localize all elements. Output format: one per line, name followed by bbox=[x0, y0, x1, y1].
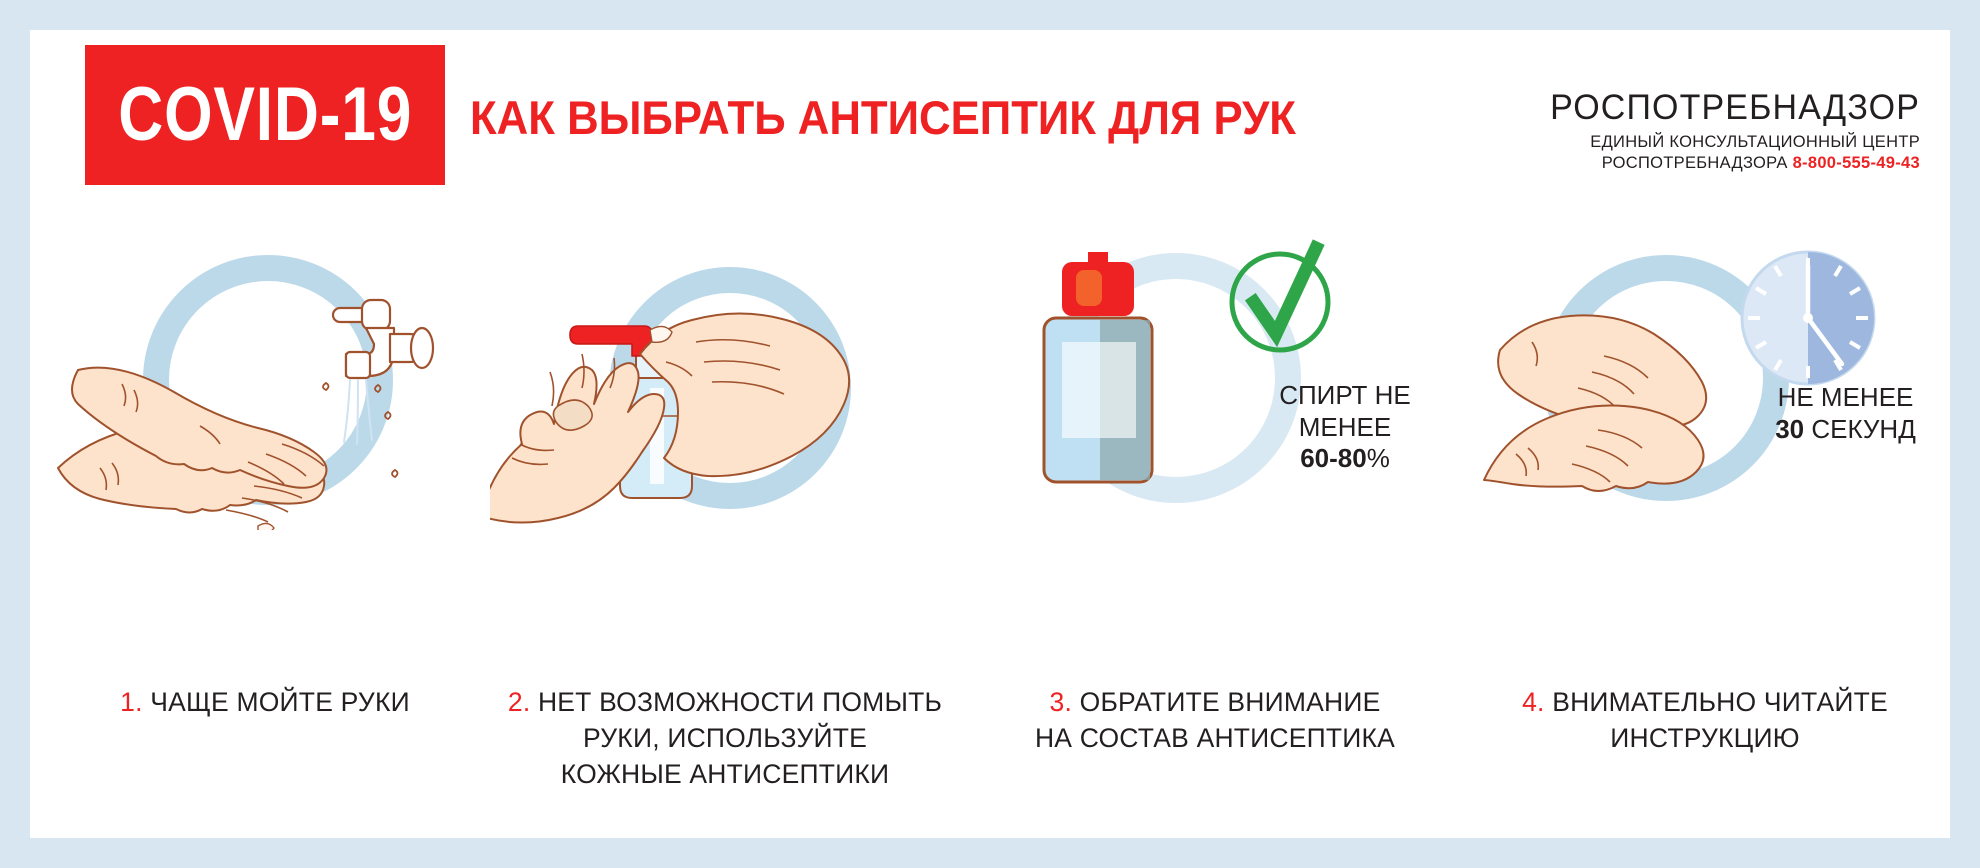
caption-4-text-line1: ВНИМАТЕЛЬНО ЧИТАЙТЕ bbox=[1552, 687, 1888, 717]
caption-2-text-line1: НЕТ ВОЗМОЖНОСТИ ПОМЫТЬ bbox=[538, 687, 942, 717]
alcohol-label-value-row: 60-80% bbox=[1230, 443, 1460, 475]
agency-block: РОСПОТРЕБНАДЗОР ЕДИНЫЙ КОНСУЛЬТАЦИОННЫЙ … bbox=[1500, 88, 1920, 173]
caption-1-number: 1. bbox=[120, 687, 143, 717]
duration-label-line1: НЕ МЕНЕЕ bbox=[1738, 382, 1953, 414]
duration-label: НЕ МЕНЕЕ 30 СЕКУНД bbox=[1738, 382, 1953, 445]
caption-1: 1. ЧАЩЕ МОЙТЕ РУКИ bbox=[25, 685, 505, 721]
agency-name: РОСПОТРЕБНАДЗОР bbox=[1513, 88, 1920, 128]
caption-3: 3. ОБРАТИТЕ ВНИМАНИЕ НА СОСТАВ АНТИСЕПТИ… bbox=[975, 685, 1455, 757]
caption-4-text-line2: ИНСТРУКЦИЮ bbox=[1465, 721, 1945, 757]
alcohol-content-label: СПИРТ НЕ МЕНЕЕ 60-80% bbox=[1230, 380, 1460, 475]
caption-4-line1: 4. ВНИМАТЕЛЬНО ЧИТАЙТЕ bbox=[1465, 685, 1945, 721]
caption-2-text-line3: КОЖНЫЕ АНТИСЕПТИКИ bbox=[485, 757, 965, 793]
caption-2: 2. НЕТ ВОЗМОЖНОСТИ ПОМЫТЬ РУКИ, ИСПОЛЬЗУ… bbox=[485, 685, 965, 792]
agency-hotline-prefix: РОСПОТРЕБНАДЗОРА bbox=[1602, 154, 1788, 172]
caption-3-line1: 3. ОБРАТИТЕ ВНИМАНИЕ bbox=[975, 685, 1455, 721]
panel-4: НЕ МЕНЕЕ 30 СЕКУНД bbox=[1470, 230, 1950, 700]
poster-header: COVID-19 КАК ВЫБРАТЬ АНТИСЕПТИК ДЛЯ РУК … bbox=[30, 30, 1950, 220]
agency-hotline-line1: ЕДИНЫЙ КОНСУЛЬТАЦИОННЫЙ ЦЕНТР bbox=[1500, 133, 1920, 152]
hands-rubbing-with-clock-icon bbox=[1470, 230, 1950, 530]
captions-row: 1. ЧАЩЕ МОЙТЕ РУКИ 2. НЕТ ВОЗМОЖНОСТИ ПО… bbox=[30, 685, 1950, 835]
percent-sign: % bbox=[1367, 443, 1390, 473]
alcohol-percent-value: 60-80 bbox=[1300, 443, 1367, 473]
caption-4: 4. ВНИМАТЕЛЬНО ЧИТАЙТЕ ИНСТРУКЦИЮ bbox=[1465, 685, 1945, 757]
caption-4-number: 4. bbox=[1522, 687, 1545, 717]
panels-row: СПИРТ НЕ МЕНЕЕ 60-80% bbox=[30, 230, 1950, 700]
alcohol-label-line1: СПИРТ НЕ МЕНЕЕ bbox=[1230, 380, 1460, 443]
caption-3-number: 3. bbox=[1050, 687, 1073, 717]
panel-3: СПИРТ НЕ МЕНЕЕ 60-80% bbox=[980, 230, 1460, 700]
covid19-badge-label: COVID-19 bbox=[118, 77, 412, 153]
caption-3-text-line2: НА СОСТАВ АНТИСЕПТИКА bbox=[975, 721, 1455, 757]
caption-2-text-line2: РУКИ, ИСПОЛЬЗУЙТЕ bbox=[485, 721, 965, 757]
infographic-poster: COVID-19 КАК ВЫБРАТЬ АНТИСЕПТИК ДЛЯ РУК … bbox=[30, 30, 1950, 838]
caption-3-text-line1: ОБРАТИТЕ ВНИМАНИЕ bbox=[1080, 687, 1381, 717]
caption-2-line1: 2. НЕТ ВОЗМОЖНОСТИ ПОМЫТЬ bbox=[485, 685, 965, 721]
hands-pumping-sanitizer-icon bbox=[490, 230, 970, 530]
agency-phone-number: 8-800-555-49-43 bbox=[1793, 154, 1920, 172]
caption-1-line1: 1. ЧАЩЕ МОЙТЕ РУКИ bbox=[25, 685, 505, 721]
agency-hotline-line2: РОСПОТРЕБНАДЗОРА 8-800-555-49-43 bbox=[1500, 154, 1920, 173]
panel-1 bbox=[30, 230, 510, 700]
page-title: КАК ВЫБРАТЬ АНТИСЕПТИК ДЛЯ РУК bbox=[470, 90, 1456, 145]
duration-seconds-value: 30 bbox=[1775, 414, 1804, 444]
caption-1-text: ЧАЩЕ МОЙТЕ РУКИ bbox=[150, 687, 410, 717]
caption-2-number: 2. bbox=[508, 687, 531, 717]
duration-label-value-row: 30 СЕКУНД bbox=[1738, 414, 1953, 446]
hands-washing-under-faucet-icon bbox=[30, 230, 510, 530]
duration-unit: СЕКУНД bbox=[1811, 414, 1915, 444]
covid19-badge: COVID-19 bbox=[85, 45, 445, 185]
panel-2 bbox=[490, 230, 970, 700]
